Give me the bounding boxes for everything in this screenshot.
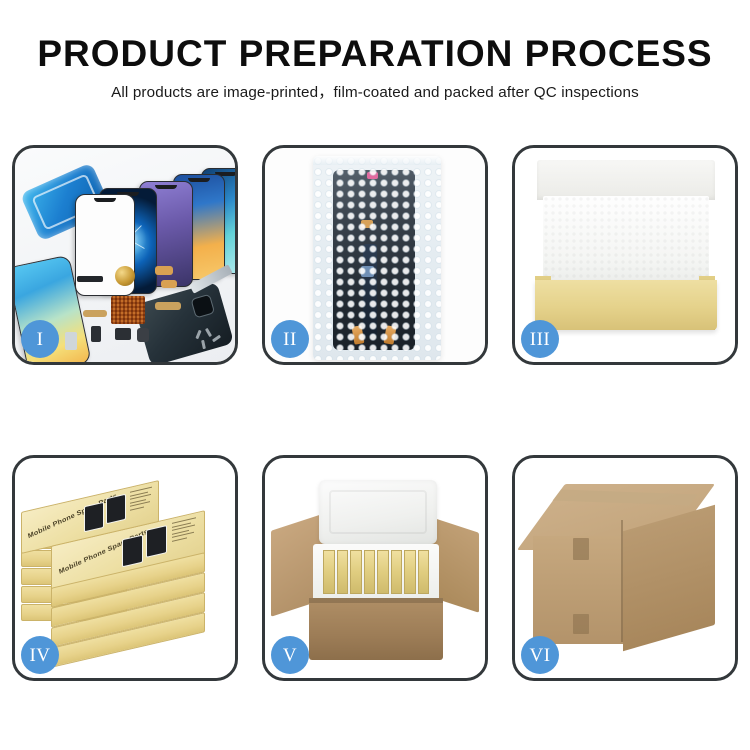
step-badge-2: II <box>271 320 309 358</box>
step-panel-2[interactable]: II <box>262 145 488 365</box>
spare-part-icon <box>115 328 131 340</box>
step-badge-3: III <box>521 320 559 358</box>
carton-front-panel <box>309 598 443 660</box>
carton-vertical-edge <box>621 520 623 642</box>
speaker-component-icon <box>115 266 135 286</box>
step-panel-3[interactable]: III <box>512 145 738 365</box>
retail-box-stack: Mobile Phone Spare Parts Mobile Phone Sp… <box>21 482 233 660</box>
box-front-panel <box>535 280 717 330</box>
screen-print-icon <box>122 535 143 568</box>
step-badge-4: IV <box>21 636 59 674</box>
screen-print-icon <box>106 494 126 525</box>
step-panel-1[interactable]: I <box>12 145 238 365</box>
spare-part-icon <box>137 328 149 342</box>
packed-retail-boxes <box>323 550 429 594</box>
header: PRODUCT PREPARATION PROCESS All products… <box>0 32 750 103</box>
foam-lid <box>319 480 437 544</box>
notch-icon <box>155 185 177 189</box>
screen-print-icon <box>84 502 104 533</box>
step-badge-label: V <box>283 646 297 665</box>
step-panel-4[interactable]: Mobile Phone Spare Parts Mobile Phone Sp… <box>12 455 238 681</box>
screws-icon <box>195 328 225 350</box>
foam-sheet <box>543 196 709 290</box>
step-badge-label: IV <box>29 646 50 665</box>
copper-mesh-icon <box>111 296 145 324</box>
step-badge-label: I <box>37 330 44 349</box>
step-badge-label: III <box>530 330 550 349</box>
carton-tab-icon <box>573 538 589 560</box>
flex-cable-icon <box>155 302 181 310</box>
box-lid-flap <box>537 160 715 200</box>
bubble-wrap-bag <box>313 156 441 360</box>
product-preparation-poster: PRODUCT PREPARATION PROCESS All products… <box>0 0 750 750</box>
spare-part-icon <box>91 326 101 342</box>
flex-cable-icon <box>155 266 173 275</box>
camera-module-icon <box>190 294 215 319</box>
step-badge-6: VI <box>521 636 559 674</box>
spec-text-lines <box>130 486 154 513</box>
phone-screen-fan <box>73 166 235 276</box>
carton-tab-icon <box>573 614 589 634</box>
flex-cable-icon <box>83 310 107 317</box>
step-badge-5: V <box>271 636 309 674</box>
step-badge-1: I <box>21 320 59 358</box>
notch-icon <box>188 178 210 182</box>
spare-part-icon <box>77 276 103 282</box>
spare-part-icon <box>65 332 77 350</box>
screen-print-icon <box>146 525 167 558</box>
page-subtitle: All products are image-printed，film-coat… <box>0 83 750 103</box>
spec-text-lines <box>172 517 198 544</box>
step-badge-label: II <box>283 330 297 349</box>
process-steps-grid: I <box>12 145 738 681</box>
step-panel-6[interactable]: VI <box>512 455 738 681</box>
page-title: PRODUCT PREPARATION PROCESS <box>0 32 750 76</box>
flex-cable-icon <box>161 280 177 288</box>
step-badge-label: VI <box>529 646 550 665</box>
bubble-texture <box>313 156 441 360</box>
bag-seal-edge <box>313 156 441 165</box>
notch-icon <box>94 198 116 202</box>
step-panel-5[interactable]: V <box>262 455 488 681</box>
